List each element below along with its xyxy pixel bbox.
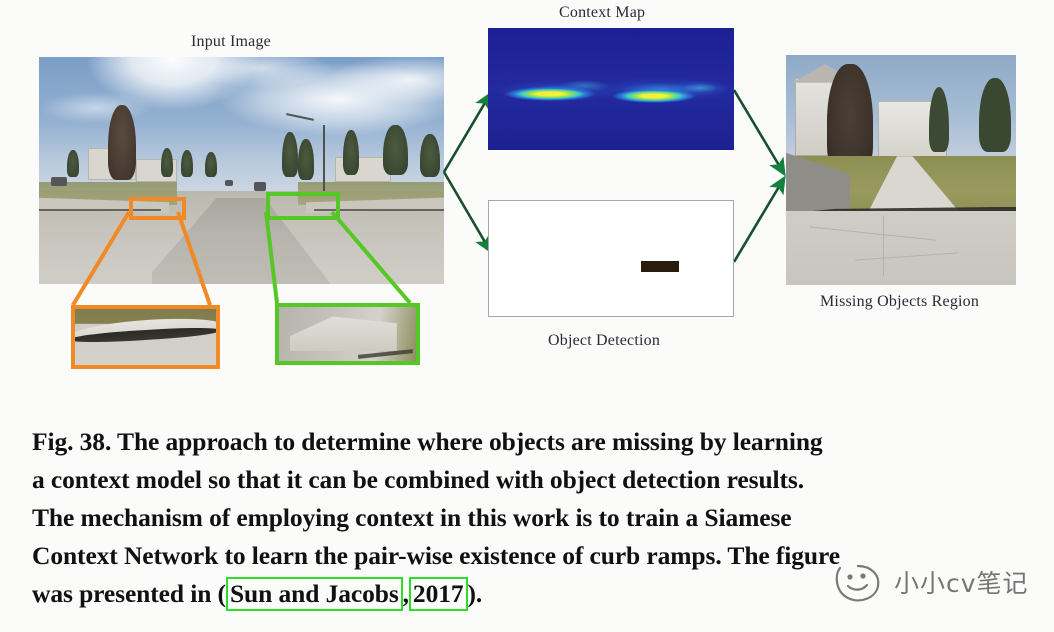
- watermark-text: 小小cv笔记: [894, 564, 1029, 600]
- caption-line-2: a context model so that it can be combin…: [32, 461, 1034, 499]
- missing-objects-region-panel: [786, 55, 1016, 285]
- green-zoom-inset-image: [279, 307, 416, 361]
- caption-line-1: Fig. 38. The approach to determine where…: [32, 423, 1034, 461]
- street-light-pole: [323, 125, 325, 191]
- citation-authors[interactable]: Sun and Jacobs: [226, 577, 403, 611]
- smiley-face-icon: [832, 560, 890, 606]
- orange-zoom-inset-image: [75, 309, 216, 365]
- context-map-label: Context Map: [559, 4, 645, 22]
- input-image-panel: [39, 57, 444, 284]
- caption-citation-prefix: was presented in (: [32, 579, 226, 608]
- tree-large-left: [108, 105, 136, 180]
- output-crack-3: [883, 216, 884, 276]
- object-detection-panel: [488, 200, 734, 317]
- car-distant-2: [254, 182, 266, 191]
- object-detection-label: Object Detection: [548, 332, 660, 350]
- caption-citation-suffix: ).: [468, 579, 483, 608]
- context-map-panel: [488, 28, 734, 150]
- output-foreground-pavement: [786, 211, 1016, 285]
- curb-shape: [71, 315, 220, 343]
- orange-zoom-inset[interactable]: [71, 305, 220, 369]
- car-parked-left: [51, 177, 67, 186]
- conifer-3: [181, 150, 193, 177]
- conifer-4: [205, 152, 217, 177]
- detection-bounding-box: [641, 261, 679, 272]
- missing-objects-region-label: Missing Objects Region: [820, 293, 979, 311]
- caption-line-3: The mechanism of employing context in th…: [32, 499, 1034, 537]
- conifer-9: [420, 134, 440, 177]
- green-zoom-inset[interactable]: [275, 303, 420, 365]
- conifer-7: [343, 130, 359, 175]
- citation-year[interactable]: 2017: [409, 577, 468, 611]
- input-image-label: Input Image: [191, 33, 271, 51]
- watermark: 小小cv笔记: [832, 560, 1042, 612]
- curb-ramp-shape: [290, 313, 397, 351]
- orange-annotation-box[interactable]: [129, 197, 186, 220]
- context-heatmap: [488, 28, 734, 150]
- figure-page: Input Image Context Map Object Detection…: [0, 0, 1054, 632]
- car-distant-1: [225, 180, 233, 187]
- conifer-2: [161, 148, 173, 178]
- conifer-8: [383, 125, 407, 175]
- green-annotation-box[interactable]: [266, 192, 340, 220]
